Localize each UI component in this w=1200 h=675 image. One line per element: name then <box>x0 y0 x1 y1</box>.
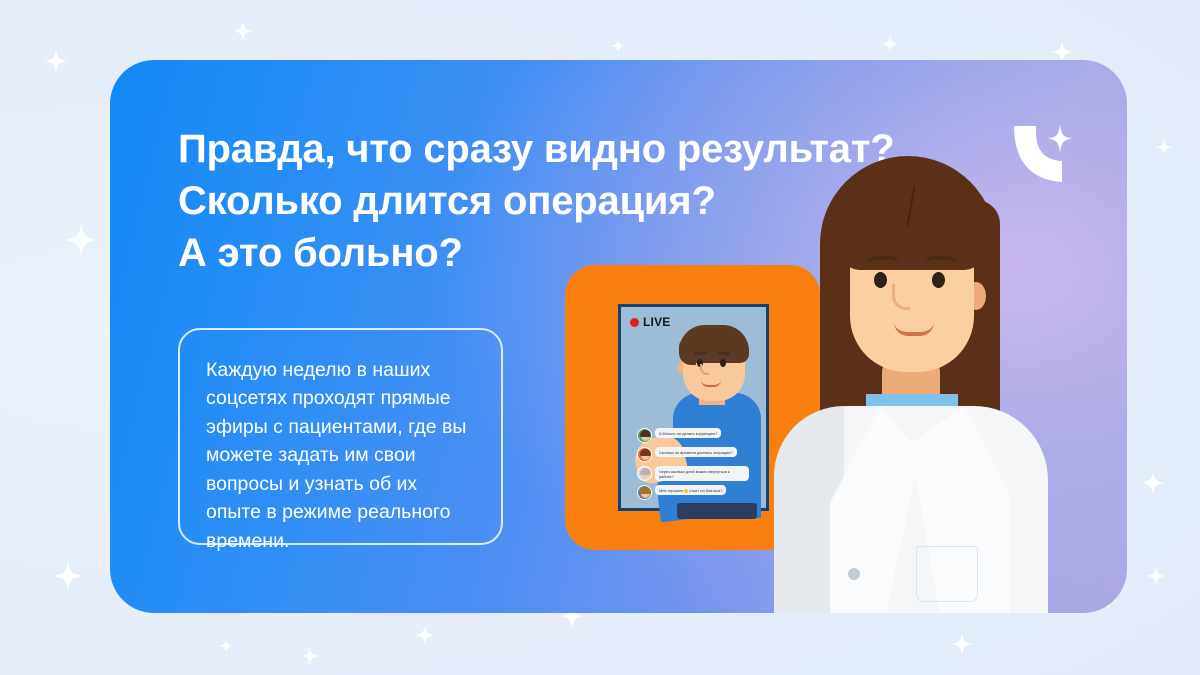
scared-face-emoji <box>684 489 688 493</box>
doctor-eyebrow-right <box>926 256 956 263</box>
promo-card: Правда, что сразу видно результат? Сколь… <box>110 60 1127 613</box>
doctor-illustration <box>770 156 1052 613</box>
chat-message-bubble: Сколько по времени длилась операция? <box>655 447 737 457</box>
sparkle-icon <box>1140 470 1166 496</box>
live-label: LIVE <box>643 315 670 329</box>
chat-message-bubble: А больно ли делать коррекцию? <box>655 428 721 438</box>
sparkle-icon <box>218 638 234 654</box>
doctor-coat-button <box>848 568 860 580</box>
chat-message-bubble: Мне страшно стоит ли бояться? <box>655 485 726 495</box>
live-record-dot <box>630 318 639 327</box>
doctor-coat-pocket <box>916 546 978 602</box>
viewer-avatar-3 <box>637 466 652 481</box>
info-box: Каждую неделю в наших соцсетях проходят … <box>178 328 503 545</box>
info-box-text: Каждую неделю в наших соцсетях проходят … <box>206 356 477 555</box>
chat-message-row: Сколько по времени длилась операция? <box>637 447 765 462</box>
viewer-avatar-1 <box>637 428 652 443</box>
presenter-sideburn <box>679 337 696 365</box>
sparkle-icon <box>1146 566 1166 586</box>
chat-message-bubble: Через сколько дней можно вернуться к раб… <box>655 466 749 481</box>
sparkle-icon <box>880 34 900 54</box>
chat-message-row: А больно ли делать коррекцию? <box>637 428 765 443</box>
live-chat-list: А больно ли делать коррекцию?Сколько по … <box>637 428 765 504</box>
chat-message-row: Через сколько дней можно вернуться к раб… <box>637 466 765 481</box>
viewer-avatar-4 <box>637 485 652 500</box>
doctor-eyebrow-left <box>868 256 898 263</box>
sparkle-icon <box>414 624 436 646</box>
presenter-laptop <box>677 503 757 519</box>
sparkle-icon <box>232 20 254 42</box>
sparkle-icon <box>610 38 626 54</box>
doctor-eye-left <box>874 272 887 288</box>
sparkle-icon <box>63 222 99 258</box>
live-badge: LIVE <box>630 315 670 329</box>
chat-message-row: Мне страшно стоит ли бояться? <box>637 485 765 500</box>
sparkle-icon <box>300 646 320 666</box>
sparkle-icon <box>43 48 69 74</box>
viewer-avatar-2 <box>637 447 652 462</box>
sparkle-icon <box>950 632 974 656</box>
presenter-eye-right <box>720 359 726 367</box>
live-stream-phone: LIVE А больно ли делать коррекцию?Скольк… <box>618 304 769 511</box>
sparkle-icon <box>52 560 84 592</box>
doctor-eye-right <box>932 272 945 288</box>
sparkle-icon <box>1155 138 1173 156</box>
